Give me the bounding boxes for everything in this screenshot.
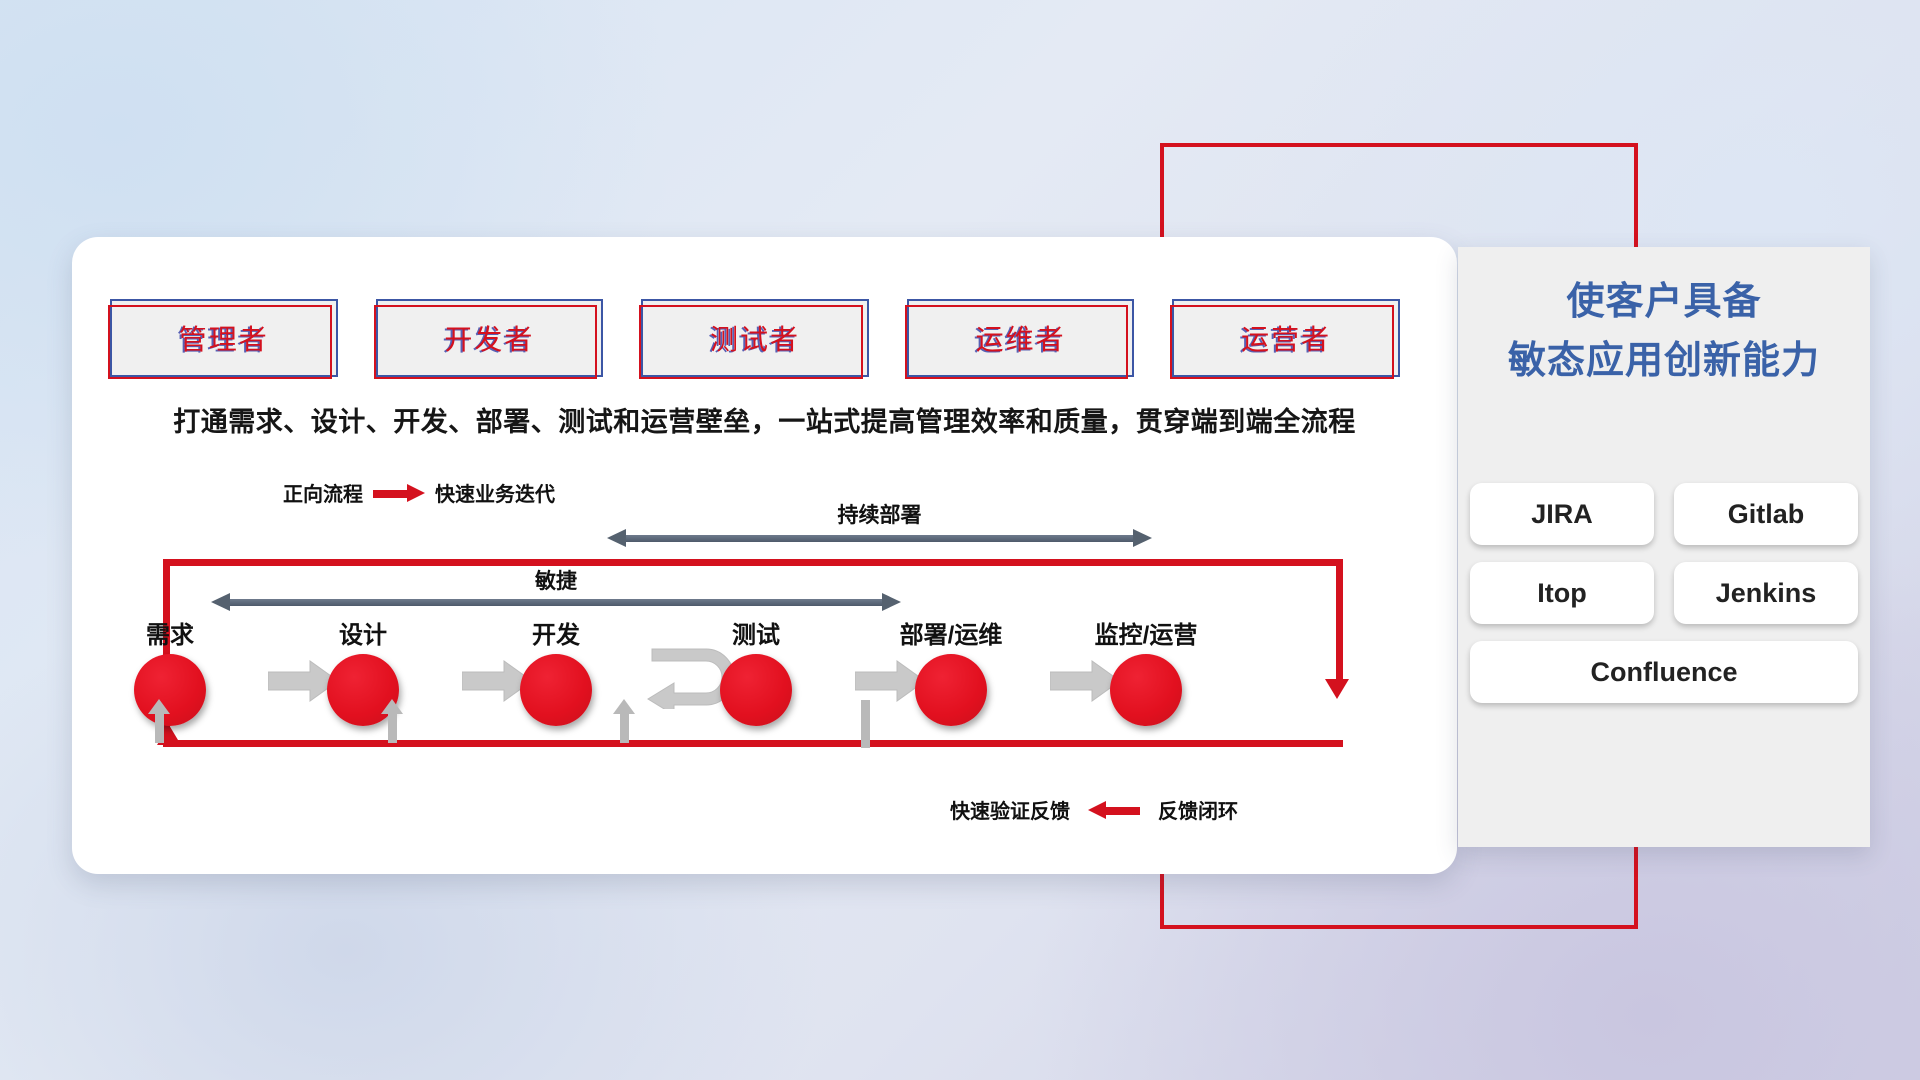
continuous-deploy-double-arrow-icon <box>607 530 1152 546</box>
stage-node-dot <box>720 654 792 726</box>
role-box-row: 管理者 开发者 测试者 运维者 运营者 <box>110 299 1400 373</box>
tool-chip-list: JIRA Gitlab Itop Jenkins Confluence <box>1470 483 1858 703</box>
stage-label: 部署/运维 <box>886 615 1016 650</box>
feedback-fast-label: 快速验证反馈 <box>950 795 1070 824</box>
pipeline-stage-requirement[interactable]: 需求 <box>105 615 235 726</box>
stage-node-dot <box>520 654 592 726</box>
panel-title-line-1: 使客户具备 <box>1458 273 1870 332</box>
role-box-ops[interactable]: 运维者 <box>907 299 1135 377</box>
pipeline-stage-test[interactable]: 测试 <box>691 615 821 726</box>
feeder-tick-design <box>388 713 397 743</box>
role-box-developer[interactable]: 开发者 <box>376 299 604 377</box>
role-label: 管理者 <box>179 318 269 358</box>
pipeline-stage-deploy-ops[interactable]: 部署/运维 <box>886 615 1016 726</box>
right-value-panel: 使客户具备 敏态应用创新能力 JIRA Gitlab Itop Jenkins … <box>1458 247 1870 847</box>
role-label: 运维者 <box>976 318 1066 358</box>
pipeline-stage-develop[interactable]: 开发 <box>491 615 621 726</box>
headline-text: 打通需求、设计、开发、部署、测试和运营壁垒，一站式提高管理效率和质量，贯穿端到端… <box>72 400 1457 439</box>
role-label: 开发者 <box>444 318 534 358</box>
forward-flow-label: 正向流程 <box>283 478 363 507</box>
tool-chip-gitlab[interactable]: Gitlab <box>1674 483 1858 545</box>
role-box-manager[interactable]: 管理者 <box>110 299 338 377</box>
stage-label: 测试 <box>691 615 821 650</box>
feedback-annotation: 快速验证反馈 反馈闭环 <box>950 795 1238 824</box>
panel-title-line-2: 敏态应用创新能力 <box>1458 332 1870 391</box>
role-label: 运营者 <box>1241 318 1331 358</box>
stage-label: 设计 <box>298 615 428 650</box>
role-box-tester[interactable]: 测试者 <box>641 299 869 377</box>
tool-chip-itop[interactable]: Itop <box>1470 562 1654 624</box>
role-box-operator[interactable]: 运营者 <box>1172 299 1400 377</box>
delivery-pipeline: 需求 设计 开发 测试 部署/运维 <box>120 615 1410 745</box>
forward-flow-annotation: 正向流程 快速业务迭代 <box>283 478 555 507</box>
tool-chip-jira[interactable]: JIRA <box>1470 483 1654 545</box>
feeder-tick-test <box>861 700 870 748</box>
feeder-tick-requirement <box>155 713 164 743</box>
panel-title: 使客户具备 敏态应用创新能力 <box>1458 273 1870 391</box>
tool-chip-jenkins[interactable]: Jenkins <box>1674 562 1858 624</box>
stage-label: 需求 <box>105 615 235 650</box>
slide-canvas: 管理者 开发者 测试者 运维者 运营者 打通需求、设计、开发、部署、测试和运营壁… <box>0 0 1920 1080</box>
stage-label: 监控/运营 <box>1081 615 1211 650</box>
stage-node-dot <box>134 654 206 726</box>
red-left-arrow-icon <box>1088 804 1140 816</box>
stage-node-dot <box>915 654 987 726</box>
stage-node-dot <box>1110 654 1182 726</box>
red-right-arrow-icon <box>373 487 425 499</box>
forward-flow-result-label: 快速业务迭代 <box>435 478 555 507</box>
feedback-loop-label: 反馈闭环 <box>1158 795 1238 824</box>
feeder-tick-develop <box>620 713 629 743</box>
continuous-deploy-label: 持续部署 <box>607 499 1152 529</box>
tool-chip-confluence[interactable]: Confluence <box>1470 641 1858 703</box>
pipeline-stage-monitor-operate[interactable]: 监控/运营 <box>1081 615 1211 726</box>
role-label: 测试者 <box>710 318 800 358</box>
stage-label: 开发 <box>491 615 621 650</box>
pipeline-stage-design[interactable]: 设计 <box>298 615 428 726</box>
